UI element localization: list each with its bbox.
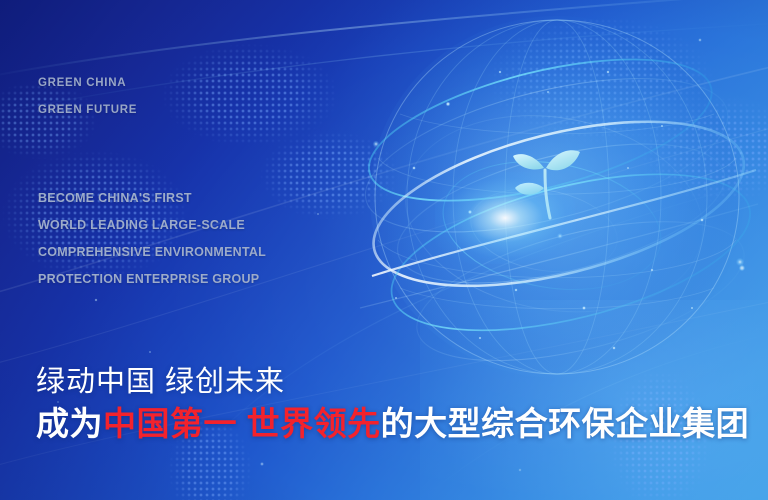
headline-prefix: 成为 — [36, 405, 103, 442]
wireframe-globe — [352, 8, 762, 386]
tagline-line-4: PROTECTION ENTERPRISE GROUP — [38, 266, 266, 293]
headline-suffix: 的大型综合环保企业集团 — [381, 405, 750, 442]
tagline-line-3: COMPREHENSIVE ENVIRONMENTAL — [38, 239, 266, 266]
eyebrow-line-2: GREEN FUTURE — [38, 97, 137, 124]
hero-banner: GREEN CHINA GREEN FUTURE BECOME CHINA'S … — [0, 0, 768, 500]
tagline-line-1: BECOME CHINA'S FIRST — [38, 185, 266, 212]
headline-line-1: 绿动中国 绿创未来 — [36, 362, 749, 402]
headline-accent: 中国第一 世界领先 — [103, 405, 381, 442]
globe-wireframe-svg — [352, 8, 762, 386]
background-glow-upper — [300, 0, 768, 400]
sprout-seedling-icon — [500, 136, 590, 232]
tagline-line-2: WORLD LEADING LARGE-SCALE — [38, 212, 266, 239]
headline: 绿动中国 绿创未来 成为中国第一 世界领先的大型综合环保企业集团 — [36, 362, 749, 446]
globe-core-glow — [435, 172, 575, 264]
eyebrow-text: GREEN CHINA GREEN FUTURE — [38, 70, 137, 124]
tagline-text: BECOME CHINA'S FIRST WORLD LEADING LARGE… — [38, 185, 266, 293]
headline-line-2: 成为中国第一 世界领先的大型综合环保企业集团 — [36, 402, 749, 446]
eyebrow-line-1: GREEN CHINA — [38, 70, 137, 97]
globe-halo — [370, 16, 744, 378]
